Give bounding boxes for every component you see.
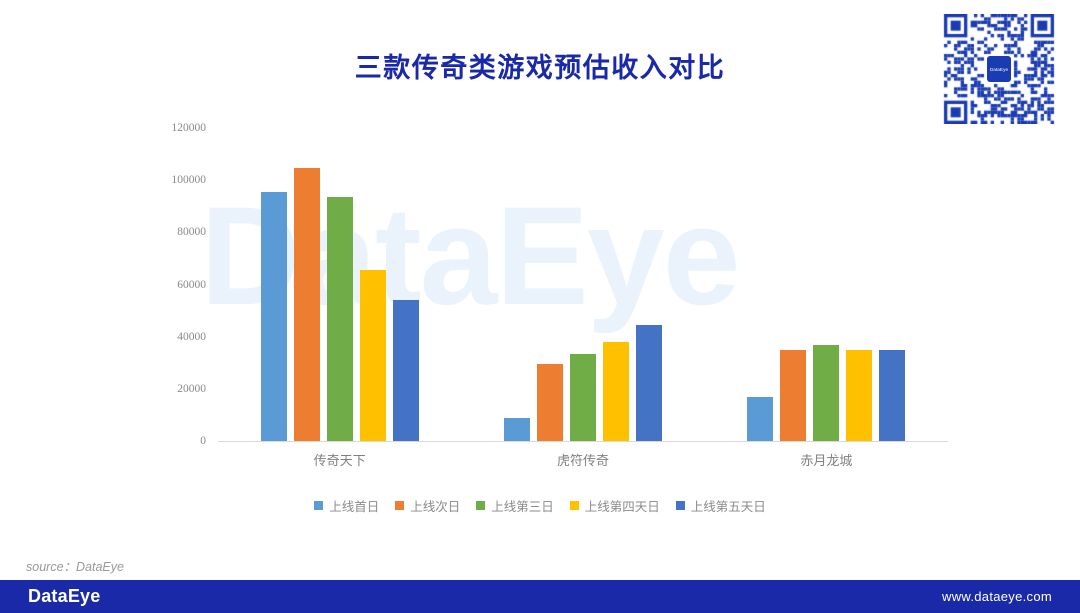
source-label: source：DataEye bbox=[26, 556, 124, 575]
y-axis-tick-label: 60000 bbox=[86, 279, 206, 291]
bar-1-4[interactable] bbox=[360, 270, 386, 441]
bar-3-3[interactable] bbox=[813, 345, 839, 441]
website-url[interactable]: www.dataeye.com bbox=[942, 589, 1052, 604]
legend-swatch-icon bbox=[570, 501, 579, 510]
bar-3-4[interactable] bbox=[846, 350, 872, 441]
brand-logo: DataEye bbox=[28, 586, 100, 607]
bar-1-3[interactable] bbox=[327, 197, 353, 441]
axis-baseline bbox=[218, 441, 948, 442]
legend-item-4[interactable]: 上线第四天日 bbox=[570, 496, 660, 515]
y-axis-tick-label: 80000 bbox=[86, 226, 206, 238]
y-axis-tick-label: 0 bbox=[86, 435, 206, 447]
bar-1-2[interactable] bbox=[294, 168, 320, 441]
page-title: 三款传奇类游戏预估收入对比 bbox=[0, 46, 1080, 85]
chart-legend: 上线首日上线次日上线第三日上线第四天日上线第五天日 bbox=[0, 496, 1080, 515]
bar-group bbox=[218, 128, 461, 441]
bar-chart: DataEye 12000010000080000600004000020000… bbox=[150, 128, 950, 528]
bar-2-4[interactable] bbox=[603, 342, 629, 441]
footer-bar: DataEye www.dataeye.com bbox=[0, 580, 1080, 613]
legend-item-3[interactable]: 上线第三日 bbox=[476, 496, 554, 515]
x-axis-category-label: 赤月龙城 bbox=[705, 450, 948, 469]
legend-label: 上线第三日 bbox=[491, 496, 554, 515]
y-axis-tick-label: 100000 bbox=[86, 174, 206, 186]
legend-label: 上线第五天日 bbox=[691, 496, 766, 515]
bar-3-1[interactable] bbox=[747, 397, 773, 441]
x-axis-category-label: 虎符传奇 bbox=[461, 450, 704, 469]
bar-group bbox=[461, 128, 704, 441]
slide-canvas: DataEye 三款传奇类游戏预估收入对比 DataEye 1200001000… bbox=[0, 0, 1080, 613]
legend-item-5[interactable]: 上线第五天日 bbox=[676, 496, 766, 515]
legend-label: 上线首日 bbox=[329, 496, 379, 515]
bar-2-5[interactable] bbox=[636, 325, 662, 441]
bar-2-1[interactable] bbox=[504, 418, 530, 441]
legend-item-1[interactable]: 上线首日 bbox=[314, 496, 379, 515]
legend-swatch-icon bbox=[676, 501, 685, 510]
x-axis-category-label: 传奇天下 bbox=[218, 450, 461, 469]
legend-item-2[interactable]: 上线次日 bbox=[395, 496, 460, 515]
legend-label: 上线第四天日 bbox=[585, 496, 660, 515]
plot-area bbox=[218, 128, 948, 442]
bar-2-3[interactable] bbox=[570, 354, 596, 441]
bar-1-5[interactable] bbox=[393, 300, 419, 441]
bar-2-2[interactable] bbox=[537, 364, 563, 441]
legend-swatch-icon bbox=[476, 501, 485, 510]
legend-swatch-icon bbox=[395, 501, 404, 510]
bar-3-5[interactable] bbox=[879, 350, 905, 441]
y-axis-tick-label: 20000 bbox=[86, 383, 206, 395]
bar-group bbox=[705, 128, 948, 441]
legend-swatch-icon bbox=[314, 501, 323, 510]
y-axis-tick-label: 40000 bbox=[86, 331, 206, 343]
legend-label: 上线次日 bbox=[410, 496, 460, 515]
y-axis-tick-label: 120000 bbox=[86, 122, 206, 134]
bar-3-2[interactable] bbox=[780, 350, 806, 441]
bar-1-1[interactable] bbox=[261, 192, 287, 441]
